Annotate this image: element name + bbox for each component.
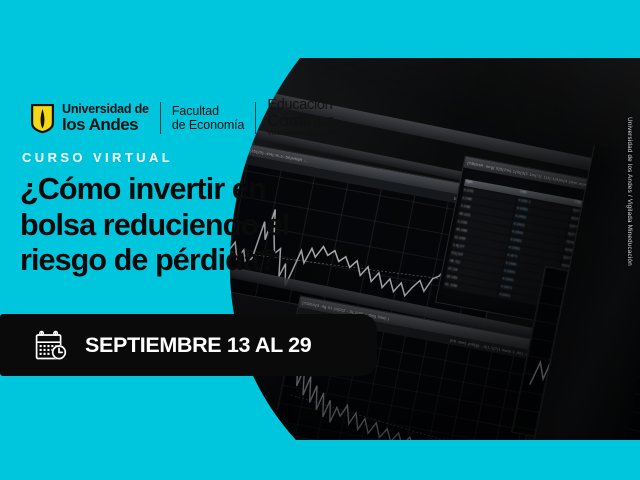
calendar-clock-icon [35,330,68,361]
page-title: ¿Cómo invertir en bolsa reduciendo el ri… [20,172,350,279]
program-line-2: Continua [267,113,339,130]
faculty-wordmark: Facultad de Economía [172,104,245,132]
logo-row: Universidad de los Andes Facultad de Eco… [30,98,339,138]
program-line-3: Vicerrectoría Académica [267,131,339,138]
credit-label: Universidad de los Andes / Vigilada Mine… [626,117,633,266]
university-line-1: Universidad de [62,103,149,116]
credit-text-vertical: Universidad de los Andes / Vigilada Mine… [622,96,636,292]
university-line-2: los Andes [62,116,149,133]
faculty-line-1: Facultad [172,104,245,118]
promo-banner: [TRHR.dq) v1 0(15(20)-:4%(:%,3-:50)HN)R … [0,0,640,480]
date-badge-label: SEPTIEMBRE 13 AL 29 [85,333,311,358]
program-line-1: Educación [267,98,339,113]
university-wordmark: Universidad de los Andes [62,103,149,134]
headline-line-1: ¿Cómo invertir en [20,172,350,208]
logo-divider-2 [255,102,256,134]
university-logo: Universidad de los Andes [30,103,149,134]
date-badge[interactable]: SEPTIEMBRE 13 AL 29 [8,314,377,376]
program-wordmark: Educación Continua Vicerrectoría Académi… [267,98,339,138]
logo-divider-1 [160,102,161,134]
shield-logo-icon [30,103,55,134]
headline-line-2: bolsa reduciendo el [20,208,350,244]
headline-line-3: riesgo de pérdida? [20,243,350,279]
eyebrow-label: CURSO VIRTUAL [22,150,173,165]
faculty-line-2: de Economía [172,118,245,132]
